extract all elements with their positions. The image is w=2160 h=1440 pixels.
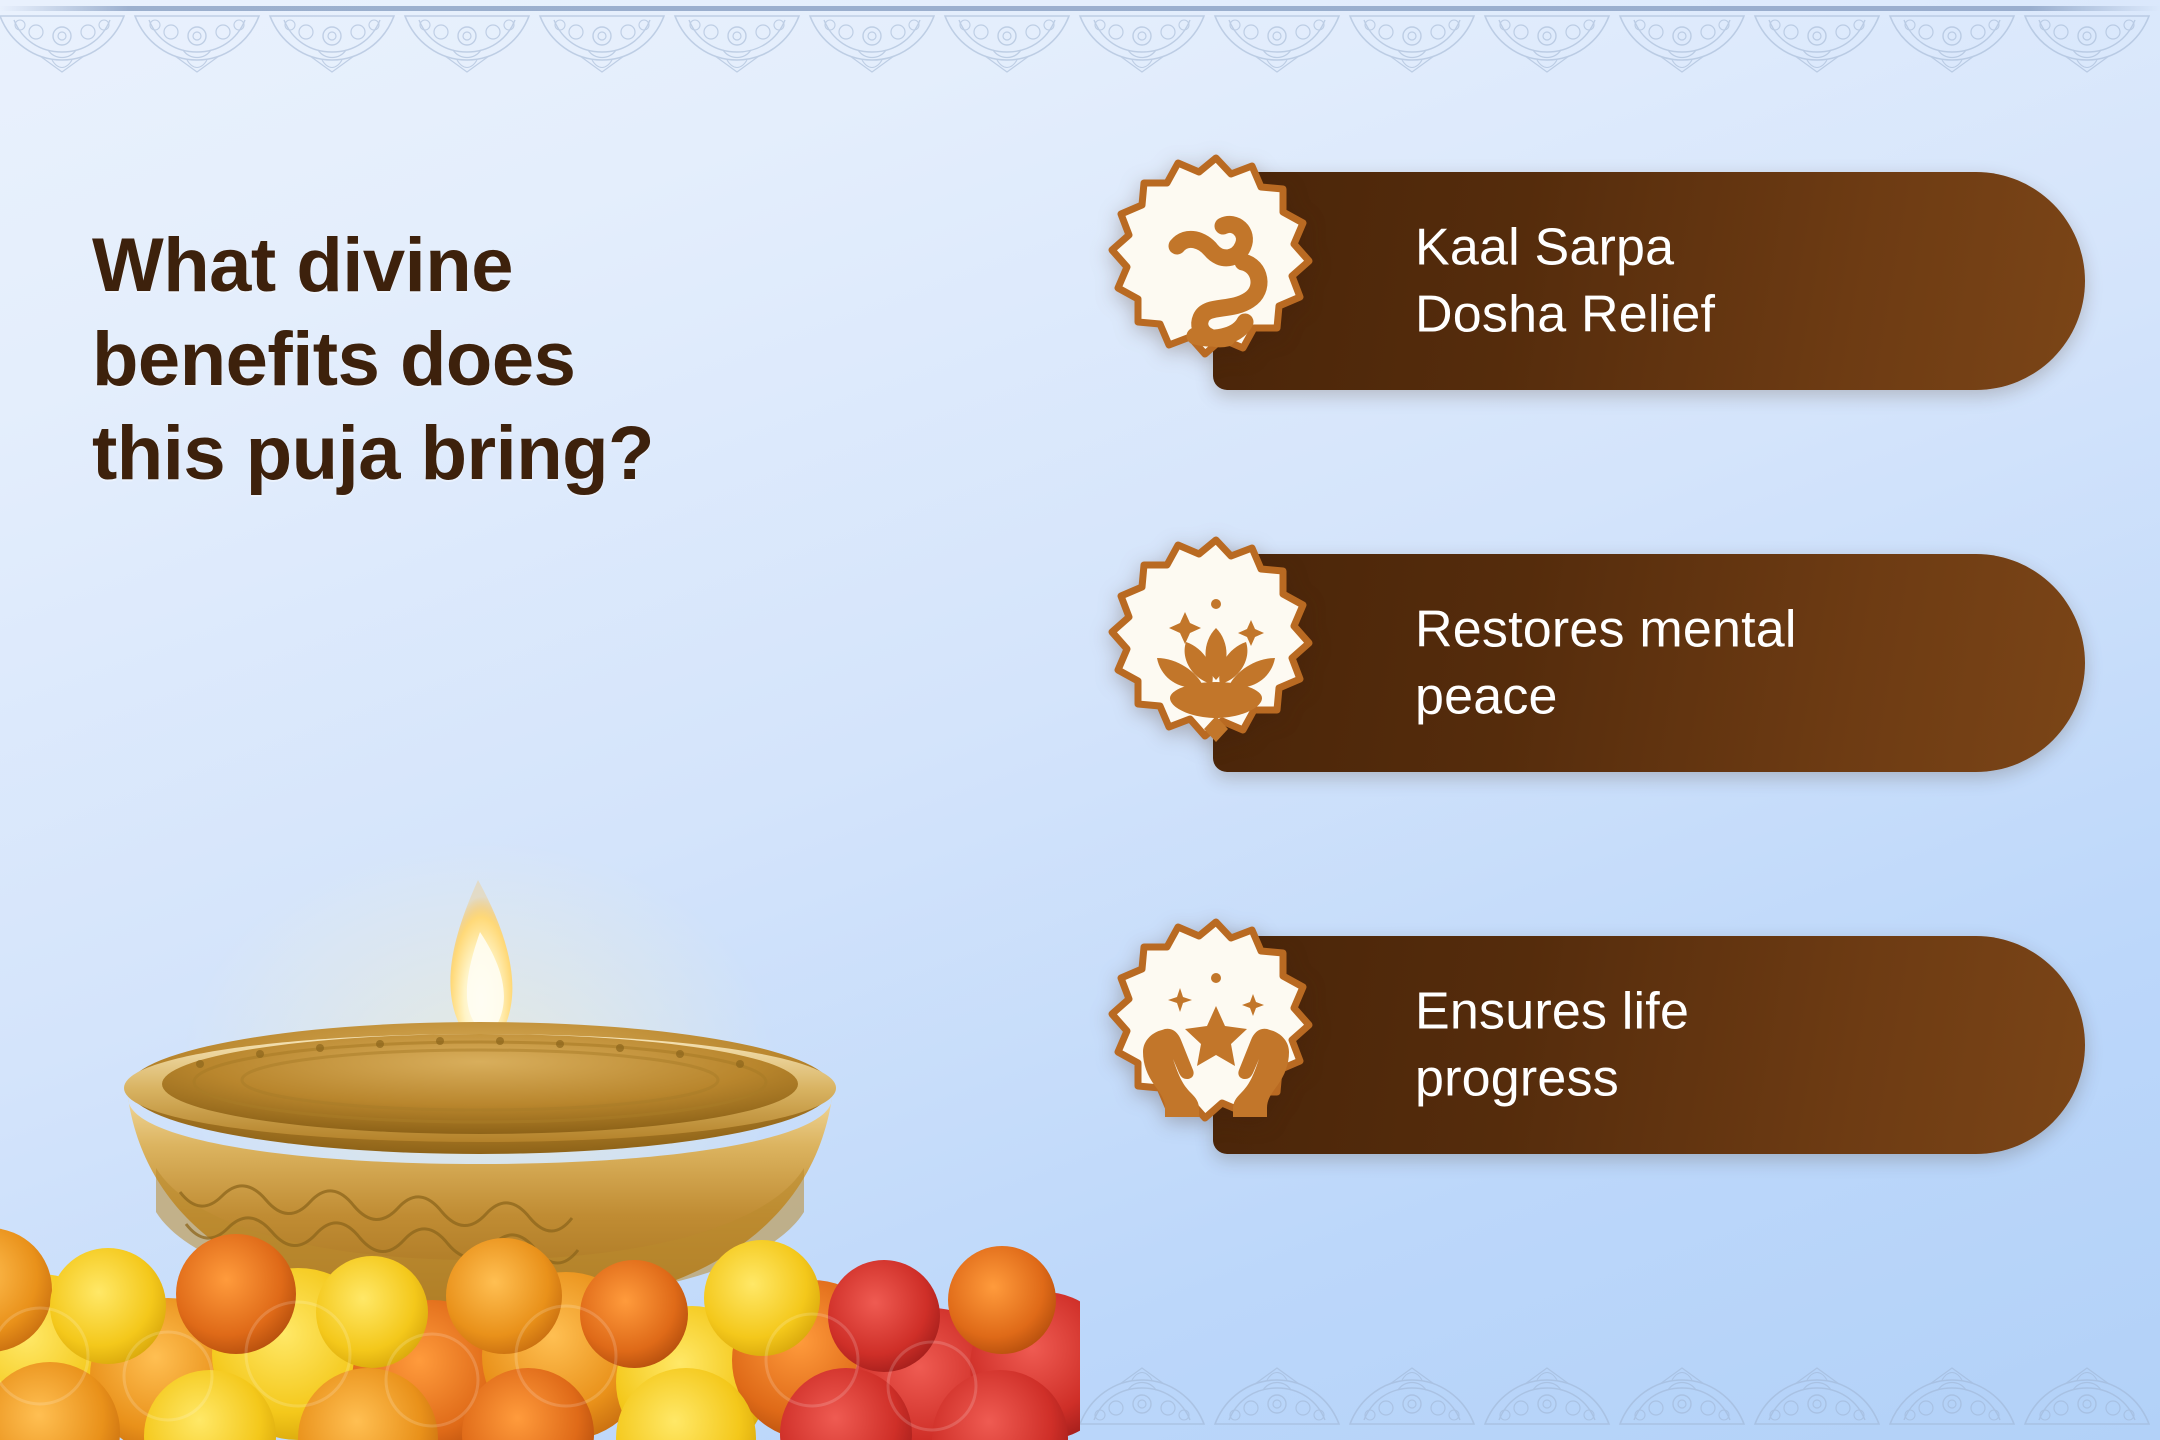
benefit-label-line-1: Restores mental xyxy=(1415,600,1797,658)
benefit-label: Ensures life progress xyxy=(1415,978,1975,1111)
benefit-badge xyxy=(1085,150,1347,412)
benefit-item-restores-mental-peace[interactable]: Restores mental peace xyxy=(1085,532,2105,794)
diya-lamp-image xyxy=(0,820,1080,1440)
snake-eye-icon xyxy=(1175,236,1187,248)
mandala-lace-border-top xyxy=(0,0,2160,92)
benefit-label-line-2: peace xyxy=(1415,667,1558,725)
benefit-badge xyxy=(1085,914,1347,1176)
benefit-item-ensures-life-progress[interactable]: Ensures life progress xyxy=(1085,914,2105,1176)
benefit-badge xyxy=(1085,532,1347,794)
poster-canvas: What divine benefits does this puja brin… xyxy=(0,0,2160,1440)
benefit-label-line-1: Ensures life xyxy=(1415,982,1689,1040)
page-title-line-2: benefits does xyxy=(92,313,972,407)
benefit-label-line-2: progress xyxy=(1415,1049,1619,1107)
mandala-lace-border-bottom xyxy=(0,1348,2160,1440)
benefit-label-line-1: Kaal Sarpa xyxy=(1415,218,1674,276)
benefits-list: Kaal Sarpa Dosha Relief xyxy=(1085,150,2105,1296)
page-title-line-3: this puja bring? xyxy=(92,407,972,501)
benefit-label: Kaal Sarpa Dosha Relief xyxy=(1415,214,1975,347)
top-divider-line xyxy=(0,6,2160,11)
benefit-label-line-2: Dosha Relief xyxy=(1415,285,1715,343)
benefit-item-kaal-sarpa-dosha-relief[interactable]: Kaal Sarpa Dosha Relief xyxy=(1085,150,2105,412)
benefit-label: Restores mental peace xyxy=(1415,596,1975,729)
page-title-line-1: What divine xyxy=(92,219,972,313)
page-title: What divine benefits does this puja brin… xyxy=(92,219,972,502)
